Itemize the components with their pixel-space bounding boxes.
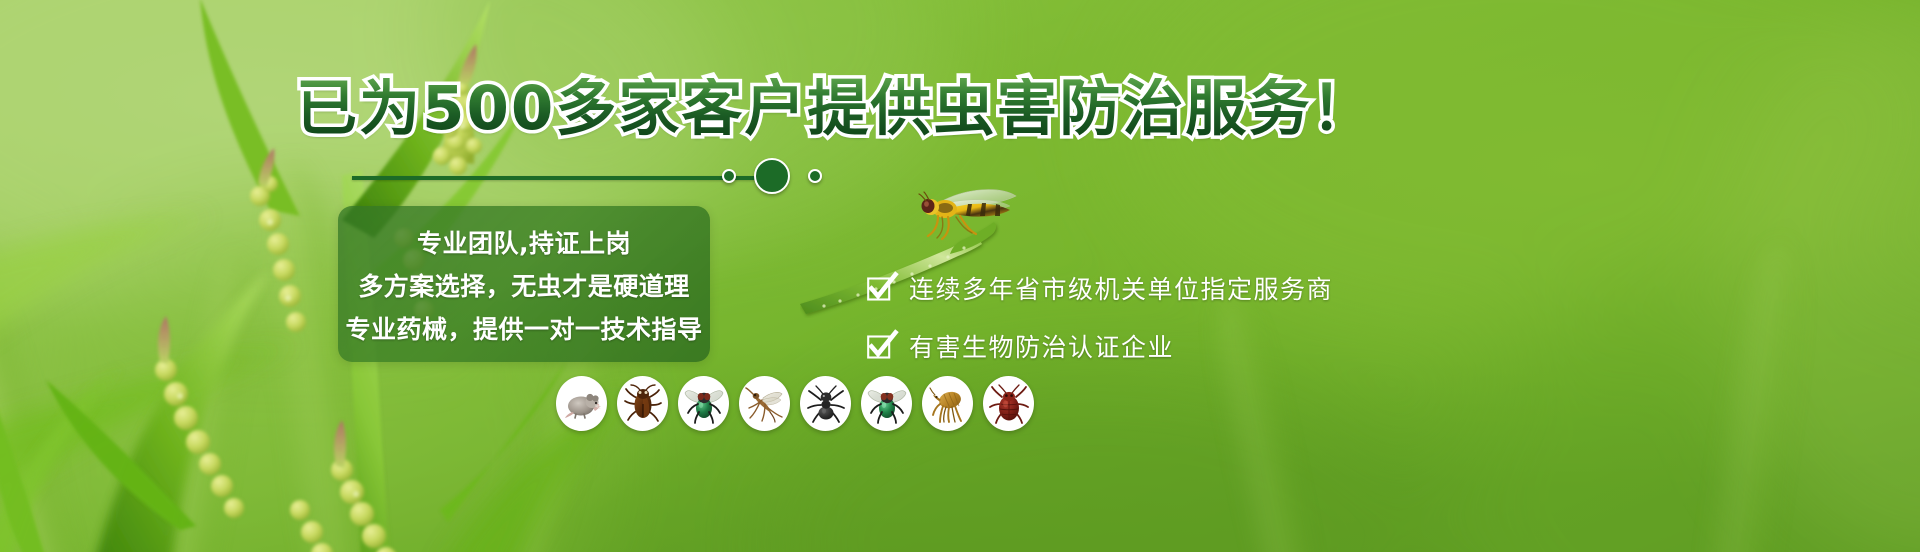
dot-small [722,169,736,183]
pest-circle[interactable] [983,376,1034,431]
cockroach-icon [623,384,663,424]
checklist-item-label: 连续多年省市级机关单位指定服务商 [909,270,1333,306]
checklist-item-label: 有害生物防治认证企业 [909,328,1174,364]
credentials-checklist: 连续多年省市级机关单位指定服务商 有害生物防治认证企业 [866,270,1333,364]
decorative-dots [722,158,822,194]
dot-large [754,158,790,194]
checklist-item: 连续多年省市级机关单位指定服务商 [866,270,1333,306]
mosquito-icon [745,384,785,424]
feature-line-1: 专业团队,持证上岗 [417,224,631,260]
pest-circle[interactable] [556,376,607,431]
checkbox-checked-icon [866,331,896,361]
feature-panel: 专业团队,持证上岗 多方案选择，无虫才是硬道理 专业药械，提供一对一技术指导 [338,206,710,362]
pest-icon-strip [556,376,1034,431]
headline: 已为500多家客户提供虫害防治服务！ 已为500多家客户提供虫害防治服务！ [296,78,1374,139]
feature-line-2: 多方案选择，无虫才是硬道理 [358,267,690,303]
pest-circle[interactable] [800,376,851,431]
checklist-item: 有害生物防治认证企业 [866,328,1333,364]
feature-line-3: 专业药械，提供一对一技术指导 [346,310,703,346]
pest-circle[interactable] [861,376,912,431]
ant-icon [806,384,846,424]
rodent-icon [562,384,602,424]
divider-rule [352,176,760,180]
pest-circle[interactable] [617,376,668,431]
dot-small [808,169,822,183]
checkbox-checked-icon [866,273,896,303]
pest-circle[interactable] [739,376,790,431]
blowfly-icon [867,384,907,424]
bedbug-icon [989,384,1029,424]
pest-circle[interactable] [678,376,729,431]
fly-icon [684,384,724,424]
headline-text: 已为500多家客户提供虫害防治服务！ [296,78,1374,139]
flea-icon [928,384,968,424]
pest-circle[interactable] [922,376,973,431]
promo-banner: 已为500多家客户提供虫害防治服务！ 已为500多家客户提供虫害防治服务！ 专业… [0,0,1920,552]
